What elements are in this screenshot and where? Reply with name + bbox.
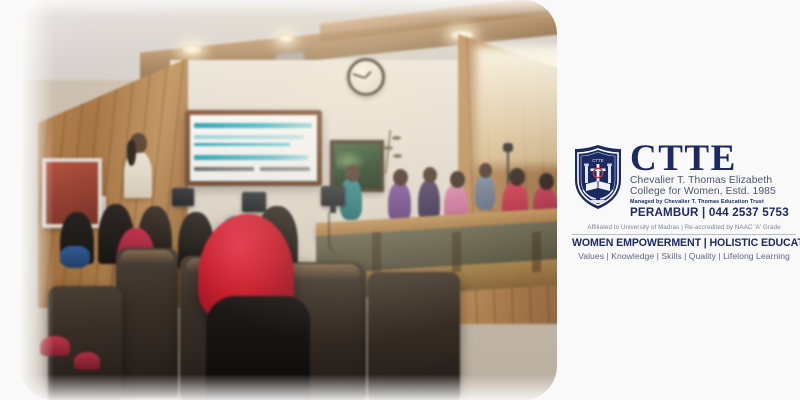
values-line: Values | Knowledge | Skills | Quality | … bbox=[572, 251, 796, 261]
presenter-hair bbox=[127, 140, 136, 166]
computer-monitor bbox=[172, 188, 194, 206]
divider-rule bbox=[572, 234, 796, 235]
audience-chair bbox=[368, 272, 460, 400]
tagline: WOMEN EMPOWERMENT | HOLISTIC EDUCATION bbox=[572, 237, 796, 249]
ctte-crest-icon: CTTE bbox=[572, 144, 624, 210]
screen-content-band bbox=[194, 135, 304, 139]
audience-member bbox=[60, 246, 90, 268]
computer-monitor bbox=[321, 186, 345, 206]
student-head bbox=[539, 173, 554, 190]
screen-content-band bbox=[194, 167, 254, 171]
student-seated bbox=[475, 174, 495, 210]
college-name-line-2: College for Women, Estd. 1985 bbox=[630, 186, 796, 197]
cable bbox=[328, 212, 346, 256]
student-head bbox=[479, 163, 492, 178]
plant-leaf bbox=[384, 146, 393, 150]
audience-chair bbox=[116, 248, 178, 398]
clock-minute-hand bbox=[352, 73, 365, 79]
location-phone-line: PERAMBUR | 044 2537 5753 bbox=[630, 206, 796, 220]
event-photo bbox=[20, 0, 557, 400]
student-head bbox=[345, 165, 360, 182]
ctte-wordmark: CTTE bbox=[630, 143, 796, 175]
wall-clock bbox=[347, 58, 385, 96]
affiliation-line: Affiliated to University of Madras | Re-… bbox=[572, 223, 796, 233]
plant-leaf bbox=[392, 136, 401, 140]
projector-screen bbox=[190, 115, 317, 181]
student-head bbox=[393, 169, 408, 186]
desk-leg bbox=[452, 232, 461, 273]
audience-member bbox=[40, 336, 70, 356]
svg-text:CTTE: CTTE bbox=[592, 158, 604, 163]
desk-leg bbox=[532, 232, 541, 273]
computer-monitor bbox=[242, 192, 266, 212]
event-photo-container bbox=[20, 0, 557, 400]
poster-canvas: CTTE CTTE Chevalier T. Thomas Elizabeth … bbox=[0, 0, 800, 400]
college-name-line-1: Chevalier T. Thomas Elizabeth bbox=[630, 175, 796, 186]
window-daylight bbox=[475, 46, 557, 166]
logo-wordmark-group: CTTE Chevalier T. Thomas Elizabeth Colle… bbox=[630, 142, 796, 220]
managed-by-line: Managed by Chevalier T. Thomas Education… bbox=[630, 198, 796, 206]
student-seated bbox=[388, 182, 411, 222]
screen-content-band bbox=[260, 167, 310, 171]
plant-leaf bbox=[393, 154, 402, 158]
audience-member bbox=[74, 352, 100, 370]
college-logo: CTTE CTTE Chevalier T. Thomas Elizabeth … bbox=[572, 142, 796, 270]
ceiling-light bbox=[182, 44, 202, 55]
clock-hour-hand bbox=[364, 71, 372, 79]
screen-content-band bbox=[194, 155, 308, 160]
chair-highlight bbox=[120, 250, 174, 264]
student-head bbox=[450, 171, 465, 188]
audience-member-body bbox=[206, 296, 310, 400]
ceiling-light bbox=[278, 34, 294, 43]
logo-top-row: CTTE CTTE Chevalier T. Thomas Elizabeth … bbox=[572, 142, 796, 220]
student-head bbox=[509, 168, 525, 186]
screen-content-band bbox=[194, 123, 312, 128]
desk-leg bbox=[372, 232, 381, 273]
screen-content-band bbox=[194, 143, 290, 146]
student-head bbox=[423, 167, 437, 183]
microphone-head bbox=[503, 143, 513, 152]
